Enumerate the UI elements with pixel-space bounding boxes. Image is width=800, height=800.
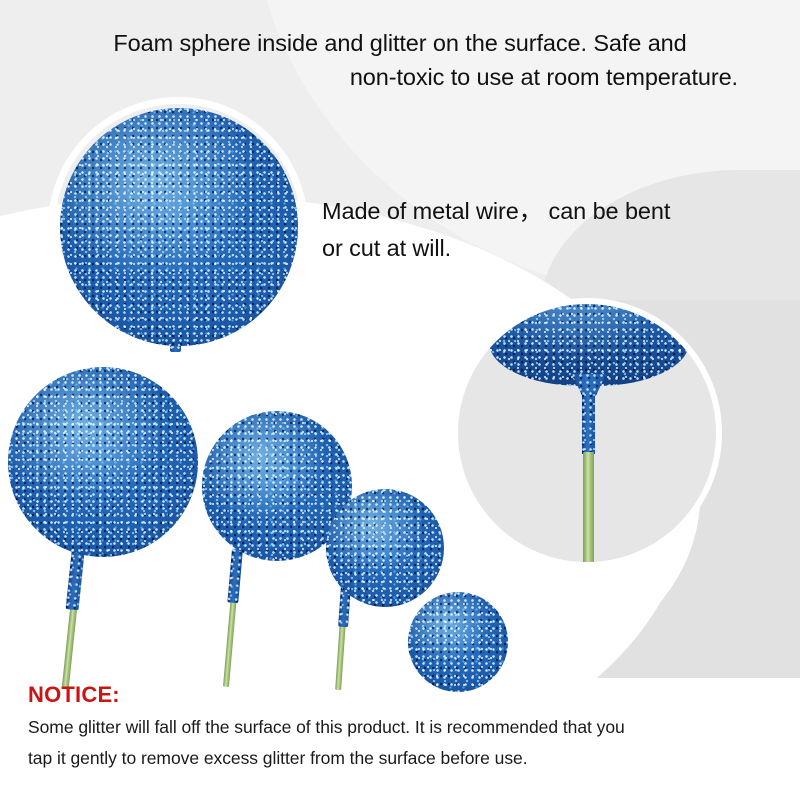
headline-line-1: Foam sphere inside and glitter on the su… bbox=[20, 26, 780, 60]
headline-line-2: non-toxic to use at room temperature. bbox=[20, 60, 780, 94]
feature-note-line-2: or cut at will. bbox=[322, 230, 772, 267]
glitter-base-flare bbox=[489, 298, 689, 386]
product-infographic: Foam sphere inside and glitter on the su… bbox=[0, 0, 800, 800]
headline-text: Foam sphere inside and glitter on the su… bbox=[20, 26, 780, 94]
glitter-neck bbox=[582, 392, 595, 454]
feature-note-text: Made of metal wire， can be bent or cut a… bbox=[322, 193, 772, 267]
notice-body: Some glitter will fall off the surface o… bbox=[28, 712, 778, 774]
notice-line-1: Some glitter will fall off the surface o… bbox=[28, 712, 778, 743]
notice-line-2: tap it gently to remove excess glitter f… bbox=[28, 743, 778, 774]
notice-title: NOTICE: bbox=[28, 682, 120, 708]
wire-closeup-magnifier bbox=[452, 298, 722, 568]
glitter-sphere-4 bbox=[408, 592, 508, 692]
wire-stem-closeup bbox=[583, 452, 594, 568]
feature-note-line-1: Made of metal wire， can be bent bbox=[322, 193, 772, 230]
glitter-sphere-hero bbox=[60, 108, 298, 346]
glitter-sphere-3 bbox=[326, 489, 444, 607]
glitter-sphere-1 bbox=[8, 367, 198, 557]
